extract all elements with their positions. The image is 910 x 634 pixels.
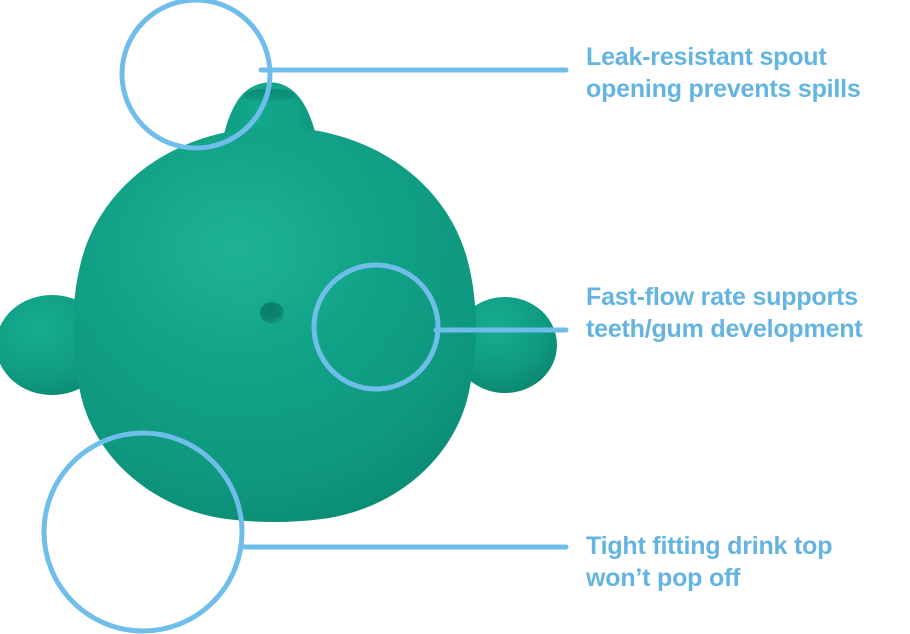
dome-sheen bbox=[90, 135, 380, 365]
highlight-circle-spout bbox=[122, 0, 270, 148]
vent-hole-inner-shadow bbox=[264, 304, 280, 318]
product-feature-infographic: Leak-resistant spout opening prevents sp… bbox=[0, 0, 910, 634]
callout-label-fit: Tight fitting drink top won’t pop off bbox=[586, 530, 906, 594]
callout-label-spout: Leak-resistant spout opening prevents sp… bbox=[586, 41, 906, 105]
product-group bbox=[0, 82, 557, 522]
callout-label-flow: Fast-flow rate supports teeth/gum develo… bbox=[586, 281, 910, 345]
